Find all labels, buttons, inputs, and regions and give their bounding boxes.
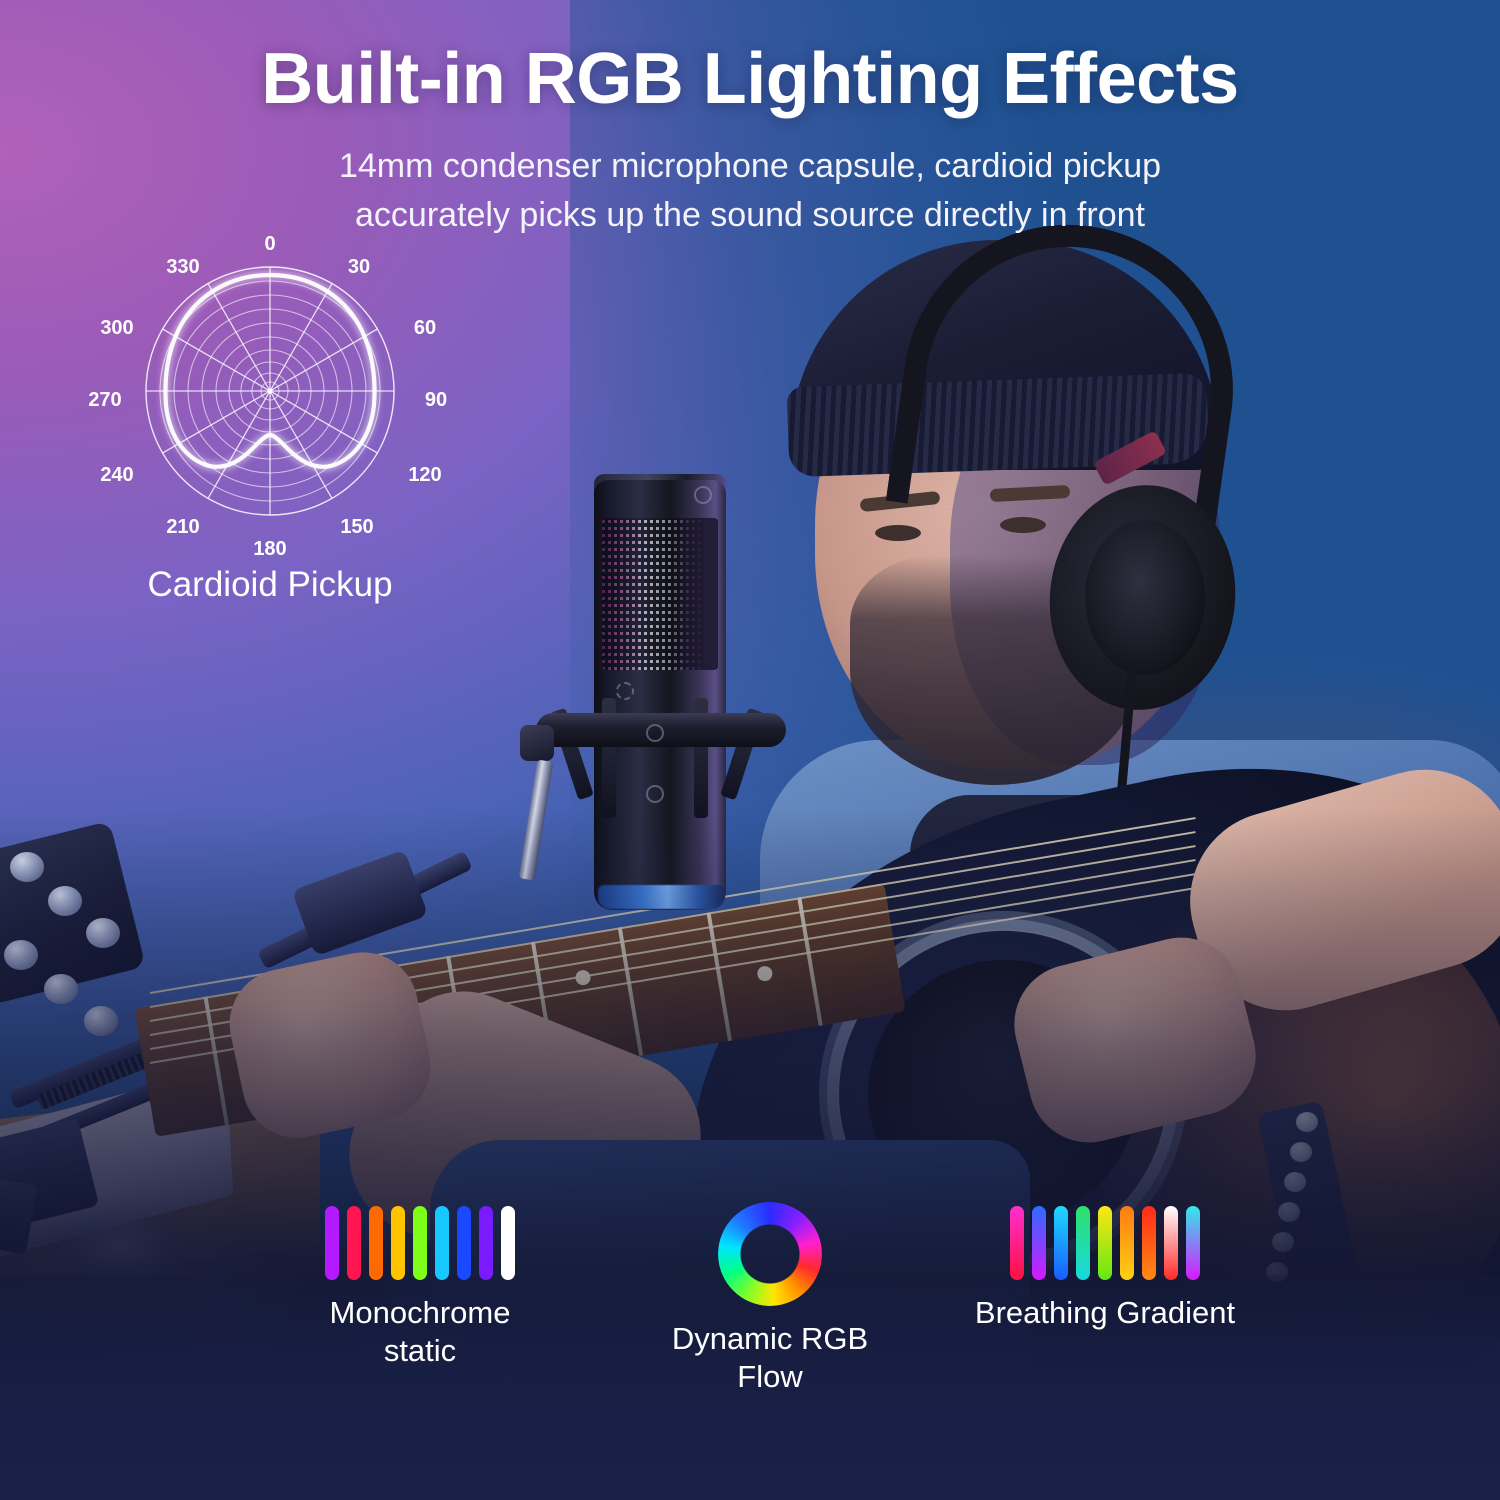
gradient-bar xyxy=(1120,1206,1134,1280)
brightness-icon xyxy=(616,682,634,700)
page-title: Built-in RGB Lighting Effects xyxy=(0,38,1500,120)
polar-label-120: 120 xyxy=(408,464,441,486)
polar-label-270: 270 xyxy=(88,389,121,411)
polar-label-90: 90 xyxy=(425,389,447,411)
polar-grid xyxy=(146,267,394,515)
subtitle: 14mm condenser microphone capsule, cardi… xyxy=(0,142,1500,241)
polar-label-150: 150 xyxy=(340,516,373,538)
lighting-mode-dynamic-rgb-flow[interactable]: Dynamic RGB Flow xyxy=(620,1202,920,1396)
polar-label-0: 0 xyxy=(264,233,275,255)
lighting-mode-label: Breathing Gradient xyxy=(950,1294,1260,1332)
polar-label-300: 300 xyxy=(100,317,133,339)
color-bars-icon xyxy=(270,1202,570,1280)
hue-ring-icon xyxy=(620,1202,920,1306)
color-bar xyxy=(369,1206,383,1280)
polar-label-240: 240 xyxy=(100,464,133,486)
eye xyxy=(875,525,921,541)
color-bar xyxy=(501,1206,515,1280)
cardioid-caption: Cardioid Pickup xyxy=(60,565,480,605)
gradient-bar xyxy=(1032,1206,1046,1280)
gradient-bar xyxy=(1054,1206,1068,1280)
gradient-bar xyxy=(1098,1206,1112,1280)
polar-label-180: 180 xyxy=(253,538,286,560)
polar-label-210: 210 xyxy=(166,516,199,538)
polar-label-30: 30 xyxy=(348,256,370,278)
mic-mute-button[interactable] xyxy=(646,724,664,742)
color-bar xyxy=(413,1206,427,1280)
gradient-bar xyxy=(1186,1206,1200,1280)
polar-label-330: 330 xyxy=(166,256,199,278)
gradient-bar xyxy=(1076,1206,1090,1280)
color-bar xyxy=(325,1206,339,1280)
lighting-mode-label: Dynamic RGB Flow xyxy=(620,1320,920,1396)
headphone-earcup-inner xyxy=(1085,520,1205,675)
polar-label-60: 60 xyxy=(414,317,436,339)
lighting-modes: Monochrome static Dynamic RGB Flow Breat… xyxy=(0,1202,1500,1422)
cardioid-polar-diagram: 0 30 60 90 120 150 180 210 240 270 300 3… xyxy=(95,228,445,558)
lighting-mode-breathing-gradient[interactable]: Breathing Gradient xyxy=(950,1202,1260,1332)
subtitle-line-1: 14mm condenser microphone capsule, cardi… xyxy=(0,142,1500,191)
mic-grille-shading xyxy=(602,518,718,670)
gradient-bar xyxy=(1142,1206,1156,1280)
mic-indicator-icon xyxy=(694,486,712,504)
color-bar xyxy=(479,1206,493,1280)
polar-chart-svg: 0 30 60 90 120 150 180 210 240 270 300 3… xyxy=(95,228,445,558)
lighting-mode-monochrome-static[interactable]: Monochrome static xyxy=(270,1202,570,1370)
color-bar xyxy=(391,1206,405,1280)
color-bar xyxy=(457,1206,471,1280)
product-banner: Built-in RGB Lighting Effects 14mm conde… xyxy=(0,0,1500,1500)
mic-gain-knob[interactable] xyxy=(646,785,664,803)
mic-mount-joint xyxy=(520,725,554,761)
gradient-bar xyxy=(1010,1206,1024,1280)
lighting-mode-label: Monochrome static xyxy=(270,1294,570,1370)
color-bar xyxy=(347,1206,361,1280)
color-bar xyxy=(435,1206,449,1280)
gradient-bar xyxy=(1164,1206,1178,1280)
gradient-bars-icon xyxy=(950,1202,1260,1280)
